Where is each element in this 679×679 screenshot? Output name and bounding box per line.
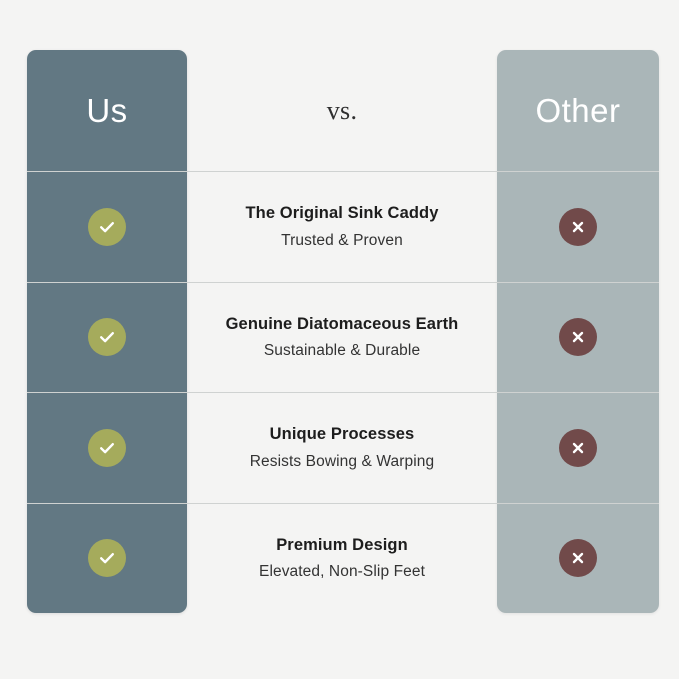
feature-cell: Unique Processes Resists Bowing & Warpin… xyxy=(187,393,497,502)
feature-text: Unique Processes Resists Bowing & Warpin… xyxy=(240,426,444,469)
comparison-grid: Us vs. Other The Original Sink Caddy xyxy=(27,50,659,613)
cross-icon xyxy=(559,208,597,246)
cross-icon xyxy=(559,318,597,356)
feature-subtitle: Resists Bowing & Warping xyxy=(250,454,434,470)
feature-title: Premium Design xyxy=(259,537,425,554)
feature-cell: Genuine Diatomaceous Earth Sustainable &… xyxy=(187,283,497,392)
header-cell-us: Us xyxy=(27,50,187,171)
table-row: Premium Design Elevated, Non-Slip Feet xyxy=(27,503,659,613)
check-icon xyxy=(88,429,126,467)
us-status-cell xyxy=(27,172,187,281)
feature-text: Genuine Diatomaceous Earth Sustainable &… xyxy=(216,316,469,359)
other-column-title: Other xyxy=(535,92,620,130)
cross-icon xyxy=(559,429,597,467)
us-status-cell xyxy=(27,504,187,613)
feature-subtitle: Sustainable & Durable xyxy=(226,343,459,359)
check-icon xyxy=(88,318,126,356)
comparison-table: Us vs. Other The Original Sink Caddy xyxy=(0,0,679,679)
us-column-title: Us xyxy=(86,92,127,130)
versus-label: vs. xyxy=(327,96,358,126)
other-status-cell xyxy=(497,172,659,281)
feature-subtitle: Trusted & Proven xyxy=(245,233,438,249)
feature-title: The Original Sink Caddy xyxy=(245,205,438,222)
header-cell-vs: vs. xyxy=(187,50,497,171)
feature-title: Unique Processes xyxy=(250,426,434,443)
us-status-cell xyxy=(27,283,187,392)
table-row: The Original Sink Caddy Trusted & Proven xyxy=(27,171,659,281)
header-cell-other: Other xyxy=(497,50,659,171)
other-status-cell xyxy=(497,283,659,392)
check-icon xyxy=(88,208,126,246)
feature-cell: The Original Sink Caddy Trusted & Proven xyxy=(187,172,497,281)
feature-title: Genuine Diatomaceous Earth xyxy=(226,316,459,333)
feature-text: The Original Sink Caddy Trusted & Proven xyxy=(235,205,448,248)
table-row: Genuine Diatomaceous Earth Sustainable &… xyxy=(27,282,659,392)
feature-text: Premium Design Elevated, Non-Slip Feet xyxy=(249,537,435,580)
table-row: Unique Processes Resists Bowing & Warpin… xyxy=(27,392,659,502)
other-status-cell xyxy=(497,504,659,613)
feature-cell: Premium Design Elevated, Non-Slip Feet xyxy=(187,504,497,613)
feature-subtitle: Elevated, Non-Slip Feet xyxy=(259,564,425,580)
us-status-cell xyxy=(27,393,187,502)
other-status-cell xyxy=(497,393,659,502)
cross-icon xyxy=(559,539,597,577)
header-row: Us vs. Other xyxy=(27,50,659,171)
check-icon xyxy=(88,539,126,577)
